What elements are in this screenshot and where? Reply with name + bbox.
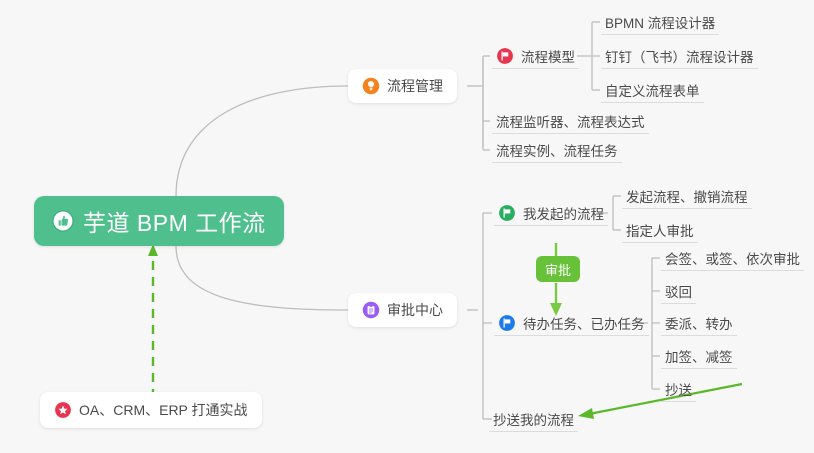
- leaf-label: 流程实例、流程任务: [496, 140, 618, 160]
- node-label: 流程模型: [521, 46, 575, 66]
- copy-link-arrow: [578, 384, 742, 419]
- leaf-listener-expression[interactable]: 流程监听器、流程表达式: [492, 108, 649, 134]
- branch-approval-center[interactable]: 审批中心: [348, 293, 457, 327]
- root-node[interactable]: 芋道 BPM 工作流: [34, 196, 284, 246]
- red-flag-icon: [496, 47, 514, 65]
- leaf-designated-approver[interactable]: 指定人审批: [622, 217, 698, 243]
- thumbs-up-icon: [52, 210, 74, 232]
- bottom-note-node[interactable]: OA、CRM、ERP 打通实战: [40, 392, 262, 428]
- node-label: 待办任务、已办任务: [523, 313, 645, 333]
- branch-label: 审批中心: [387, 300, 443, 320]
- leaf-label: 钉钉（飞书）流程设计器: [605, 46, 754, 66]
- leaf-label: BPMN 流程设计器: [605, 12, 715, 32]
- leaf-cc-to-me-processes[interactable]: 抄送我的流程: [489, 406, 578, 432]
- branch-label: 流程管理: [387, 76, 443, 96]
- red-star-icon: [54, 401, 72, 419]
- leaf-label: 加签、减签: [665, 346, 733, 366]
- mindmap-canvas: 芋道 BPM 工作流 流程管理 流程模型 BPMN 流程设计器 钉钉（飞书）流程…: [0, 0, 814, 453]
- dashed-arrow-to-root: [148, 244, 158, 398]
- leaf-countersign-approval[interactable]: 会签、或签、依次审批: [661, 245, 804, 271]
- leaf-dingtalk-designer[interactable]: 钉钉（飞书）流程设计器: [601, 43, 758, 69]
- approval-tag: 审批: [536, 256, 580, 282]
- leaf-start-cancel-process[interactable]: 发起流程、撤销流程: [622, 183, 752, 209]
- leaf-add-remove-sign[interactable]: 加签、减签: [661, 343, 737, 369]
- leaf-label: 抄送我的流程: [493, 409, 574, 429]
- leaf-label: 抄送: [665, 379, 692, 399]
- node-label: 我发起的流程: [523, 203, 604, 223]
- clipboard-icon: [362, 301, 380, 319]
- branch-process-management[interactable]: 流程管理: [348, 69, 457, 103]
- lightbulb-pin-icon: [362, 77, 380, 95]
- leaf-cc[interactable]: 抄送: [661, 376, 696, 402]
- leaf-bpmn-designer[interactable]: BPMN 流程设计器: [601, 9, 719, 35]
- bottom-note-label: OA、CRM、ERP 打通实战: [79, 400, 248, 420]
- node-todo-done-tasks[interactable]: 待办任务、已办任务: [494, 310, 649, 336]
- node-my-started-processes[interactable]: 我发起的流程: [494, 200, 608, 226]
- leaf-label: 流程监听器、流程表达式: [496, 111, 645, 131]
- leaf-label: 会签、或签、依次审批: [665, 248, 800, 268]
- node-process-model[interactable]: 流程模型: [492, 43, 579, 69]
- leaf-reject[interactable]: 驳回: [661, 278, 696, 304]
- leaf-delegate-transfer[interactable]: 委派、转办: [661, 310, 737, 336]
- green-flag-icon: [498, 204, 516, 222]
- leaf-label: 委派、转办: [665, 313, 733, 333]
- leaf-label: 驳回: [665, 281, 692, 301]
- leaf-label: 自定义流程表单: [605, 80, 700, 100]
- leaf-instance-task[interactable]: 流程实例、流程任务: [492, 137, 622, 163]
- approval-tag-label: 审批: [545, 260, 571, 279]
- blue-flag-icon: [498, 314, 516, 332]
- leaf-custom-form[interactable]: 自定义流程表单: [601, 77, 704, 103]
- leaf-label: 发起流程、撤销流程: [626, 186, 748, 206]
- root-label: 芋道 BPM 工作流: [83, 204, 266, 238]
- leaf-label: 指定人审批: [626, 220, 694, 240]
